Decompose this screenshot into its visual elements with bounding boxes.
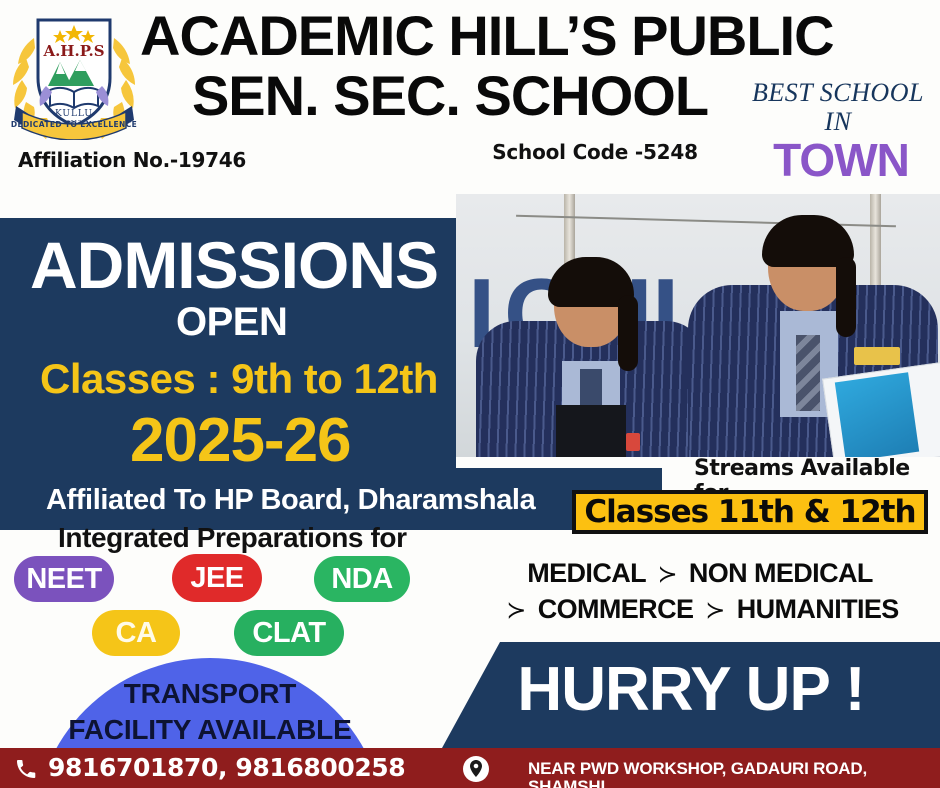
- best-school-tagline: BEST SCHOOL IN: [742, 78, 934, 136]
- phone-icon: [14, 757, 38, 781]
- transport-line-1: TRANSPORT: [34, 678, 386, 710]
- stream-medical: MEDICAL: [527, 558, 645, 588]
- location-pin-icon: [462, 755, 490, 783]
- sweater-left: [556, 405, 626, 457]
- stream-commerce: COMMERCE: [538, 594, 694, 624]
- id-badge-left: [626, 433, 640, 451]
- best-school-line-1: BEST SCHOOL: [742, 78, 934, 107]
- title-line-2: SEN. SEC. SCHOOL: [140, 66, 760, 126]
- open-book-icon: [50, 88, 98, 108]
- name-badge-right: [854, 347, 900, 365]
- exam-badge-clat: CLAT: [234, 610, 344, 656]
- streams-list: MEDICAL ≻ NON MEDICAL ≻ COMMERCE ≻ HUMAN…: [500, 556, 900, 628]
- transport-line-2: FACILITY AVAILABLE: [34, 714, 386, 746]
- streams-classes-box: Classes 11th & 12th: [572, 490, 928, 534]
- student-right: [688, 207, 938, 457]
- streams-row-1: MEDICAL ≻ NON MEDICAL: [500, 556, 900, 592]
- title-line-1: ACADEMIC HILL’S PUBLIC: [140, 6, 760, 66]
- arrow-icon: ≻: [700, 597, 730, 624]
- arrow-icon: ≻: [652, 561, 682, 588]
- poster-header: A.H.P.S KULLU 2013: [0, 0, 940, 196]
- admissions-heading: ADMISSIONS: [30, 232, 438, 298]
- tie-right: [796, 335, 820, 411]
- hurry-up-text: HURRY UP !: [442, 658, 940, 722]
- contact-footer: 9816701870, 9816800258 NEAR PWD WORKSHOP…: [0, 748, 940, 788]
- exam-badge-jee: JEE: [172, 554, 262, 602]
- logo-ribbon-text: DEDICATED TO EXCELLENCE: [11, 120, 137, 129]
- stream-humanities: HUMANITIES: [737, 594, 899, 624]
- streams-row-2: ≻ COMMERCE ≻ HUMANITIES: [500, 592, 900, 628]
- hurry-up-banner: HURRY UP !: [442, 642, 940, 748]
- best-school-line-2: IN: [742, 107, 934, 136]
- admissions-open: OPEN: [176, 302, 287, 342]
- school-address: NEAR PWD WORKSHOP, GADAURI ROAD, SHAMSHI: [528, 760, 940, 788]
- logo-place: KULLU: [55, 109, 93, 119]
- school-code: School Code -5248: [440, 140, 750, 164]
- board-affiliation: Affiliated To HP Board, Dharamshala: [46, 484, 535, 516]
- school-title: ACADEMIC HILL’S PUBLIC SEN. SEC. SCHOOL: [140, 6, 760, 126]
- integrated-prep-label: Integrated Preparations for: [58, 522, 407, 554]
- phone-numbers[interactable]: 9816701870, 9816800258: [48, 755, 405, 781]
- admission-poster: A.H.P.S KULLU 2013: [0, 0, 940, 788]
- streams-classes-text: Classes 11th & 12th: [584, 494, 915, 530]
- stream-non-medical: NON MEDICAL: [689, 558, 873, 588]
- braid-right: [836, 257, 856, 337]
- braid-left: [618, 295, 638, 371]
- booklet-cover: [835, 372, 919, 457]
- affiliation-number: Affiliation No.-19746: [18, 148, 246, 172]
- logo-monogram: A.H.P.S: [42, 42, 104, 60]
- arrow-icon: ≻: [501, 597, 531, 624]
- exam-badge-nda: NDA: [314, 556, 410, 602]
- students-photo: I C H I L O: [456, 194, 940, 457]
- exam-badge-ca: CA: [92, 610, 180, 656]
- student-left: [476, 257, 706, 457]
- exam-badge-neet: NEET: [14, 556, 114, 602]
- school-logo: A.H.P.S KULLU 2013: [4, 4, 144, 140]
- town-word: TOWN: [742, 136, 940, 184]
- classes-range: Classes : 9th to 12th: [40, 358, 438, 400]
- session-year: 2025-26: [130, 410, 351, 472]
